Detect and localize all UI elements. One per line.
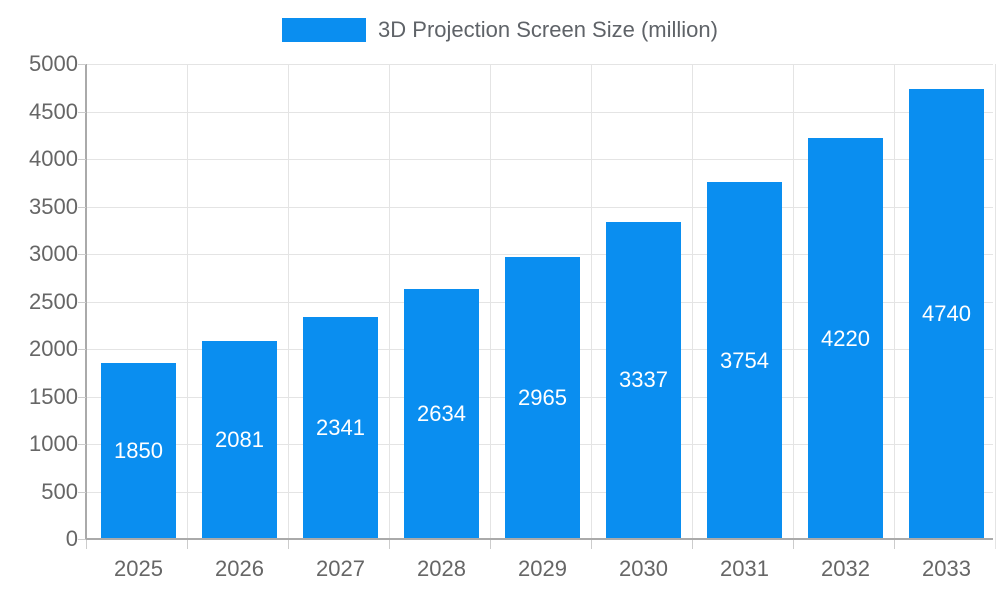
y-tick-label: 1500: [6, 386, 78, 408]
x-tick-mark: [490, 540, 491, 549]
gridline-horizontal: [86, 112, 993, 113]
x-tick-label: 2030: [593, 558, 694, 580]
y-tick-label: 500: [6, 481, 78, 503]
y-tick-label: 5000: [6, 53, 78, 75]
x-tick-label: 2031: [694, 558, 795, 580]
x-tick-mark: [86, 540, 87, 549]
chart-legend: 3D Projection Screen Size (million): [0, 0, 1000, 60]
bar-value-label: 1850: [101, 440, 176, 462]
legend-item-3d-projection-screen-size[interactable]: 3D Projection Screen Size (million): [282, 18, 718, 42]
y-tick-label: 4000: [6, 148, 78, 170]
y-tick-mark: [78, 492, 86, 493]
plot-area: 185020812341263429653337375442204740: [86, 64, 993, 539]
x-tick-label: 2026: [189, 558, 290, 580]
legend-item-label: 3D Projection Screen Size (million): [378, 18, 718, 42]
gridline-vertical: [692, 64, 693, 549]
gridline-vertical: [187, 64, 188, 549]
x-tick-label: 2025: [88, 558, 189, 580]
y-tick-mark: [78, 397, 86, 398]
bar-value-label: 3754: [707, 350, 782, 372]
y-tick-label: 2000: [6, 338, 78, 360]
y-tick-label: 3500: [6, 196, 78, 218]
y-tick-mark: [78, 64, 86, 65]
gridline-vertical: [894, 64, 895, 549]
y-tick-label: 0: [6, 528, 78, 550]
bar-value-label: 4220: [808, 328, 883, 350]
bar-value-label: 2634: [404, 403, 479, 425]
gridline-horizontal: [86, 64, 993, 65]
y-tick-mark: [78, 207, 86, 208]
gridline-vertical: [288, 64, 289, 549]
bar-value-label: 4740: [909, 303, 984, 325]
x-tick-label: 2032: [795, 558, 896, 580]
y-tick-mark: [78, 349, 86, 350]
gridline-vertical: [389, 64, 390, 549]
bar-chart: 3D Projection Screen Size (million) 1850…: [0, 0, 1000, 600]
gridline-vertical: [793, 64, 794, 549]
bar-value-label: 2341: [303, 417, 378, 439]
y-tick-mark: [78, 302, 86, 303]
bar-value-label: 3337: [606, 369, 681, 391]
gridline-vertical: [490, 64, 491, 549]
x-tick-label: 2029: [492, 558, 593, 580]
x-tick-mark: [288, 540, 289, 549]
y-tick-mark: [78, 159, 86, 160]
x-tick-mark: [187, 540, 188, 549]
bar-value-label: 2965: [505, 387, 580, 409]
gridline-vertical: [995, 64, 996, 549]
y-tick-label: 2500: [6, 291, 78, 313]
y-axis-ticks: 0500100015002000250030003500400045005000: [0, 0, 78, 600]
x-tick-mark: [894, 540, 895, 549]
y-tick-mark: [78, 254, 86, 255]
x-tick-label: 2033: [896, 558, 997, 580]
x-tick-label: 2028: [391, 558, 492, 580]
x-tick-mark: [591, 540, 592, 549]
x-tick-label: 2027: [290, 558, 391, 580]
y-tick-mark: [78, 539, 86, 540]
gridline-vertical: [591, 64, 592, 549]
x-tick-mark: [793, 540, 794, 549]
x-tick-mark: [389, 540, 390, 549]
y-tick-label: 1000: [6, 433, 78, 455]
x-axis-line: [85, 538, 993, 540]
y-tick-mark: [78, 444, 86, 445]
x-tick-mark: [692, 540, 693, 549]
y-tick-mark: [78, 112, 86, 113]
y-tick-label: 4500: [6, 101, 78, 123]
legend-swatch-icon: [282, 18, 366, 42]
bar-value-label: 2081: [202, 429, 277, 451]
y-tick-label: 3000: [6, 243, 78, 265]
